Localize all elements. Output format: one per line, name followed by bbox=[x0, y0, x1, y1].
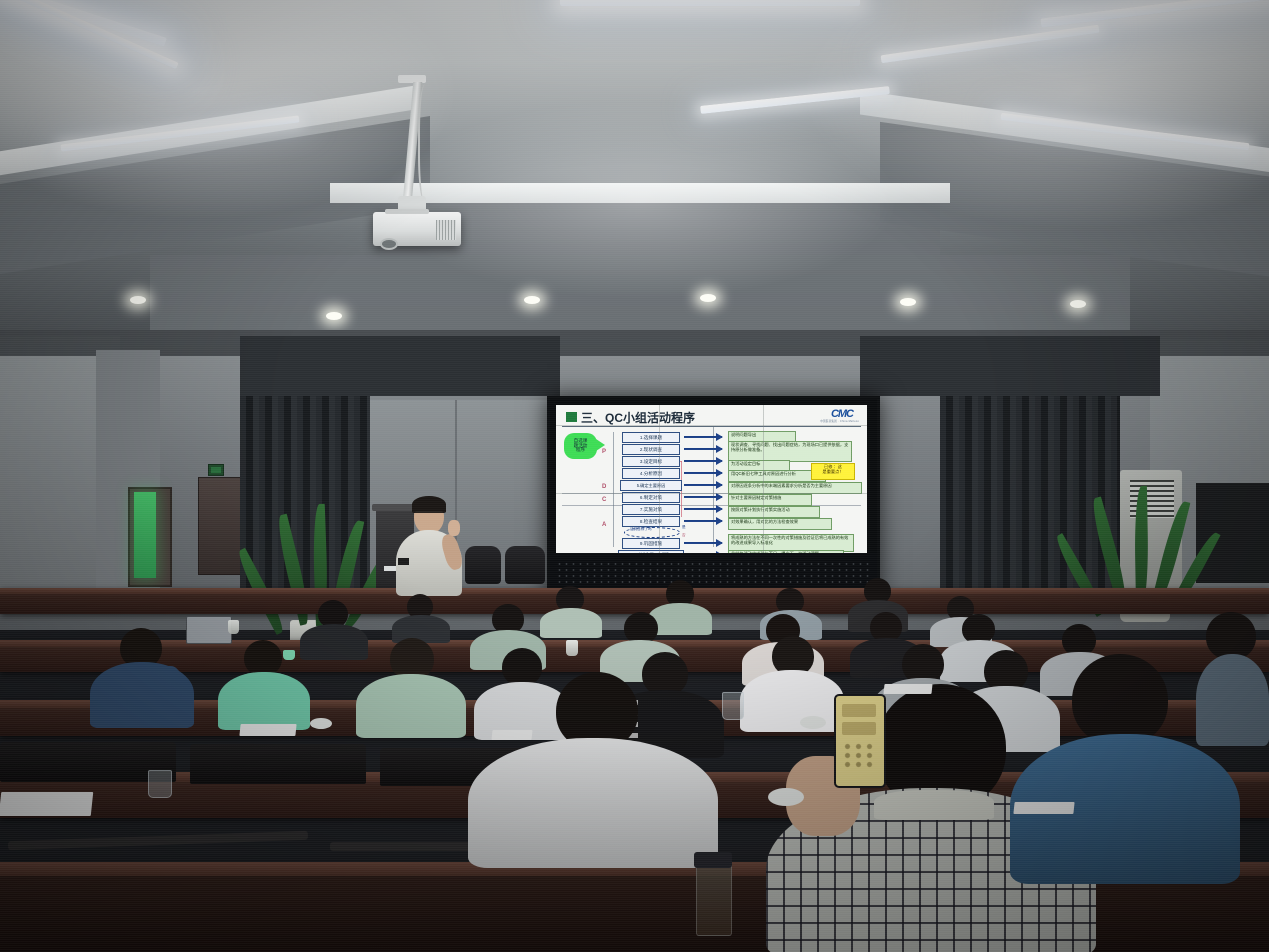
presenter-badge bbox=[398, 558, 409, 565]
panel-seam-h1 bbox=[556, 425, 867, 426]
note-box-6: 针对主要原因制定对策措施 bbox=[728, 494, 812, 506]
presentation-slide: 三、QC小组活动程序 CMC 中国医药集团 · China Meheco 自选课… bbox=[556, 405, 867, 553]
step-box-3: 3.设定目标 bbox=[622, 456, 680, 467]
paper-cup-2 bbox=[566, 640, 578, 656]
wall-upper-dark-right bbox=[860, 336, 1160, 396]
ashtray-1 bbox=[310, 718, 332, 729]
step-box-9: 9.巩固措施 bbox=[622, 538, 680, 549]
panel-seam-h2 bbox=[556, 493, 867, 494]
pdca-label-d: D bbox=[602, 484, 606, 490]
exit-sign-bar bbox=[211, 467, 221, 473]
attendee-row2-2 bbox=[218, 640, 310, 726]
led-video-wall: 三、QC小组活动程序 CMC 中国医药集团 · China Meheco 自选课… bbox=[547, 396, 880, 598]
wall-upper-dark-left bbox=[240, 336, 560, 396]
attendee-shoulders-white bbox=[468, 738, 718, 868]
decision-loop-no: 否 bbox=[682, 533, 686, 538]
arrow-6 bbox=[684, 496, 722, 498]
desk-row-5-top bbox=[0, 588, 1269, 594]
attendee-back-6 bbox=[392, 594, 450, 638]
glass-thermos bbox=[696, 856, 732, 936]
downlight-4 bbox=[700, 294, 716, 302]
slide-callout-bubble: 自选课 题活动 程序 bbox=[564, 433, 597, 459]
arrow-2 bbox=[684, 448, 722, 450]
attendee-front-1 bbox=[468, 672, 718, 862]
callout-line-3: 程序 bbox=[576, 448, 585, 453]
projector-top-detail bbox=[385, 209, 429, 214]
paper-cup-1 bbox=[228, 620, 239, 634]
projector-cable bbox=[418, 84, 436, 204]
downlight-1 bbox=[130, 296, 146, 304]
attendee-row2-3 bbox=[356, 638, 466, 734]
arrow-8 bbox=[684, 520, 722, 522]
paper-notebook-1 bbox=[239, 724, 296, 736]
note-box-2: 现状调查、寻找问题、找出问题症结，为现场口已提供依据，支持原分析做准备。 bbox=[728, 441, 852, 462]
ashtray-2 bbox=[800, 716, 826, 729]
ashtray-3 bbox=[768, 788, 804, 806]
cmc-logo-subtitle: 中国医药集团 · China Meheco bbox=[820, 419, 859, 423]
arrow-4 bbox=[684, 472, 722, 474]
pdca-label-c: C bbox=[602, 497, 606, 503]
panel-seam-v2 bbox=[763, 405, 764, 553]
slide-title: 三、QC小组活动程序 bbox=[581, 409, 695, 426]
arrow-1 bbox=[684, 436, 722, 438]
exit-sign bbox=[208, 464, 224, 476]
attendee-back-1 bbox=[540, 586, 602, 632]
attendee-arm bbox=[154, 666, 182, 706]
led-strip-top-center bbox=[560, 0, 860, 6]
arrow-3 bbox=[684, 460, 722, 462]
thermos-lid bbox=[694, 852, 732, 868]
downlight-3 bbox=[524, 296, 540, 304]
note-box-8: 对效果确认，用对比的方法检查效果 bbox=[728, 518, 832, 530]
attendee-front-far-right bbox=[1196, 612, 1269, 742]
phone-ui-card-1 bbox=[842, 704, 876, 717]
pdca-label-p: P bbox=[602, 449, 606, 455]
tv-panel-right bbox=[1196, 483, 1269, 583]
phone[interactable] bbox=[834, 694, 886, 788]
presenter-glasses bbox=[415, 511, 443, 519]
arrow-7 bbox=[684, 508, 722, 510]
glass-cup-1 bbox=[148, 770, 172, 798]
step-box-5: 5.确定主要原因 bbox=[620, 480, 682, 491]
laptop[interactable] bbox=[186, 616, 232, 644]
paper-notebook-4 bbox=[883, 684, 932, 694]
phone-ui-grid bbox=[842, 742, 876, 770]
attendee-shoulders bbox=[1196, 654, 1269, 746]
wall-cabinet bbox=[198, 477, 242, 575]
attendee-head bbox=[1072, 654, 1168, 746]
paper-notebook-2 bbox=[491, 730, 532, 740]
pdca-label-a: A bbox=[602, 522, 606, 528]
attendee-head bbox=[1206, 612, 1256, 660]
note-box-7: 按照对策计划执行对策实施活动 bbox=[728, 506, 820, 518]
presenter-hand bbox=[448, 520, 460, 536]
paper-cup-3 bbox=[283, 650, 295, 660]
arrow-9 bbox=[684, 542, 722, 544]
video-wall-led-dots bbox=[556, 561, 871, 583]
projector-lens bbox=[380, 238, 398, 250]
step-box-4: 4.分析原因 bbox=[622, 468, 680, 479]
decision-loop-yes: 是 bbox=[682, 525, 686, 530]
office-chair-2 bbox=[505, 546, 545, 584]
arrow-5 bbox=[684, 484, 722, 486]
pdca-vertical-guide bbox=[613, 432, 614, 547]
step-box-8: 8.检查结果 bbox=[622, 516, 680, 527]
step-box-2: 2.现状调查 bbox=[622, 444, 680, 455]
paper-notebook-5 bbox=[1013, 802, 1074, 814]
title-underline bbox=[562, 426, 861, 427]
downlight-6 bbox=[1070, 300, 1086, 308]
title-marker-square bbox=[566, 412, 577, 422]
attendee-shoulders bbox=[218, 672, 310, 730]
attendee-shoulders bbox=[356, 674, 466, 738]
phone-ui-card-2 bbox=[842, 722, 876, 735]
glass-cup-2 bbox=[722, 692, 744, 720]
attendee-row2-1 bbox=[90, 628, 194, 724]
paper-notebook-3 bbox=[0, 792, 93, 816]
chair-back-b bbox=[190, 744, 366, 784]
slide-yellow-note: 已修 ：这 是重要点！ bbox=[811, 463, 855, 480]
decision-loop-label: 达到目标了吗 bbox=[630, 527, 652, 532]
column-divider-center bbox=[713, 427, 714, 547]
step-box-7: 7.实施对策 bbox=[622, 504, 680, 515]
step-box-1: 1.选择课题 bbox=[622, 432, 680, 443]
presenter bbox=[392, 498, 476, 598]
attendee-shoulders bbox=[540, 608, 602, 638]
attendee-collar bbox=[874, 790, 994, 820]
door-green-light bbox=[134, 492, 156, 578]
yellow-note-line-2: 是重要点！ bbox=[812, 470, 854, 475]
panel-seam-v1 bbox=[659, 405, 660, 553]
attendee-head-ponytail bbox=[244, 640, 282, 676]
downlight-5 bbox=[900, 298, 916, 306]
conference-room-photo: 三、QC小组活动程序 CMC 中国医药集团 · China Meheco 自选课… bbox=[0, 0, 1269, 952]
downlight-2 bbox=[326, 312, 342, 320]
chair-rail-foreground-left bbox=[8, 831, 308, 850]
projector-vent bbox=[436, 220, 456, 240]
ceiling-coffer-band-4 bbox=[150, 255, 1130, 335]
